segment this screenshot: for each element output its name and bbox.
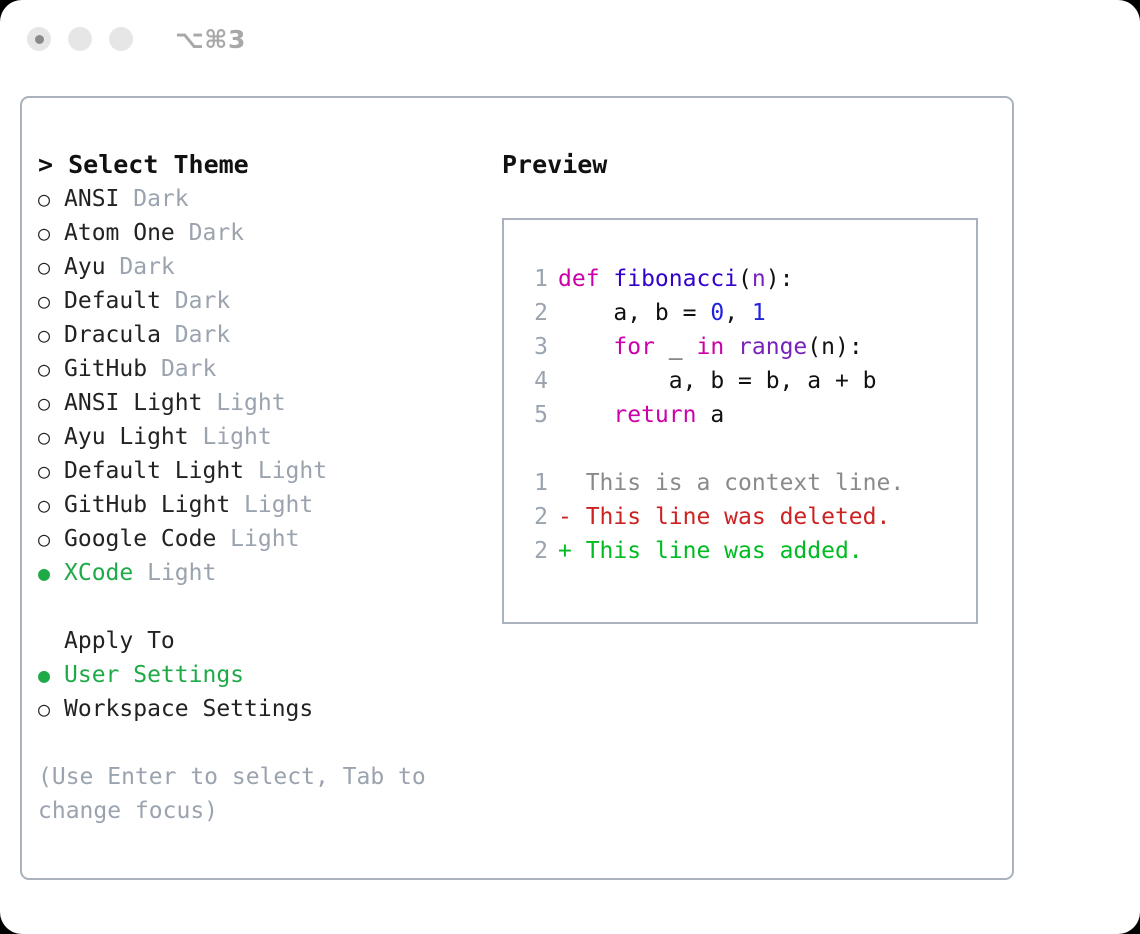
theme-option-kind: Light [230,488,313,522]
theme-option-github-light[interactable]: ○GitHub Light Light [38,488,478,522]
code-line-content: for _ in range(n): [558,330,863,364]
theme-option-kind: Light [189,420,272,454]
keyboard-shortcut-label: ⌥⌘3 [175,25,246,54]
apply-to-option-user-settings[interactable]: ●User Settings [38,658,478,692]
diff-line-text: This is a context line. [572,466,904,500]
diff-line-ctx: 1 This is a context line. [518,466,976,500]
code-line-number: 1 [518,262,548,296]
code-line: 2 a, b = 0, 1 [518,296,976,330]
select-theme-header: > Select Theme [38,148,478,182]
diff-line-add: 2+ This line was added. [518,534,976,568]
theme-option-kind: Light [202,386,285,420]
theme-option-kind: Dark [175,216,244,250]
theme-option-label: Default [64,284,161,318]
radio-unselected-icon: ○ [38,250,64,284]
main-card: > Select Theme ○ANSI Dark○Atom One Dark○… [20,96,1014,880]
code-token-plain: _ [655,334,697,360]
theme-option-kind: Dark [161,318,230,352]
list-spacer [38,590,478,624]
theme-option-label: Google Code [64,522,216,556]
theme-option-ayu[interactable]: ○Ayu Dark [38,250,478,284]
apply-to-option-label: Workspace Settings [64,692,313,726]
code-line-number: 2 [518,296,548,330]
theme-option-label: ANSI Light [64,386,202,420]
theme-option-label: Ayu Light [64,420,189,454]
theme-list: ○ANSI Dark○Atom One Dark○Ayu Dark○Defaul… [38,182,478,590]
code-line: 1def fibonacci(n): [518,262,976,296]
theme-option-label: GitHub [64,352,147,386]
theme-option-label: Dracula [64,318,161,352]
apply-to-option-workspace-settings[interactable]: ○Workspace Settings [38,692,478,726]
theme-option-label: Ayu [64,250,106,284]
theme-option-label: GitHub Light [64,488,230,522]
theme-option-kind: Light [133,556,216,590]
diff-line-number: 1 [518,466,548,500]
code-token-plain [558,402,613,428]
radio-unselected-icon: ○ [38,488,64,522]
radio-unselected-icon: ○ [38,182,64,216]
theme-option-atom-one[interactable]: ○Atom One Dark [38,216,478,250]
theme-option-github[interactable]: ○GitHub Dark [38,352,478,386]
code-token-call: range [738,334,807,360]
code-token-plain [724,334,738,360]
theme-option-kind: Dark [119,182,188,216]
code-line: 5 return a [518,398,976,432]
code-token-plain: a [696,402,724,428]
code-token-plain: a, b = [558,300,710,326]
radio-unselected-icon: ○ [38,420,64,454]
theme-selection-panel: > Select Theme ○ANSI Dark○Atom One Dark○… [38,148,478,828]
code-token-var: n [752,266,766,292]
theme-option-default-light[interactable]: ○Default Light Light [38,454,478,488]
code-token-plain [558,334,613,360]
diff-sign [558,466,572,500]
window-dot-third[interactable] [109,27,133,51]
code-token-fn: fibonacci [613,266,738,292]
theme-option-ansi-light[interactable]: ○ANSI Light Light [38,386,478,420]
theme-option-kind: Dark [106,250,175,284]
apply-to-label: Apply To [38,624,478,658]
code-token-num: 0 [710,300,724,326]
theme-option-default[interactable]: ○Default Dark [38,284,478,318]
diff-sign: - [558,500,572,534]
theme-option-label: Atom One [64,216,175,250]
code-token-plain: a, b = b, a + b [558,368,877,394]
theme-picker-window: ⌥⌘3 > Select Theme ○ANSI Dark○Atom One D… [0,0,1140,934]
theme-option-kind: Light [216,522,299,556]
code-token-kw: return [613,402,696,428]
diff-sign: + [558,534,572,568]
theme-option-dracula[interactable]: ○Dracula Dark [38,318,478,352]
code-line-content: a, b = b, a + b [558,364,877,398]
preview-box: 1def fibonacci(n):2 a, b = 0, 13 for _ i… [502,218,978,624]
code-token-plain: , [724,300,752,326]
preview-panel: Preview 1def fibonacci(n):2 a, b = 0, 13… [502,148,992,624]
help-text: (Use Enter to select, Tab to change focu… [38,760,438,828]
code-token-num: 1 [752,300,766,326]
code-line-content: a, b = 0, 1 [558,296,766,330]
radio-unselected-icon: ○ [38,284,64,318]
code-token-kw: for [613,334,655,360]
radio-unselected-icon: ○ [38,692,64,726]
theme-option-label: XCode [64,556,133,590]
code-line: 4 a, b = b, a + b [518,364,976,398]
diff-sample: 1 This is a context line.2- This line wa… [518,466,976,568]
code-sample: 1def fibonacci(n):2 a, b = 0, 13 for _ i… [518,262,976,432]
code-token-plain: ( [738,266,752,292]
radio-unselected-icon: ○ [38,318,64,352]
theme-option-label: ANSI [64,182,119,216]
window-dot-second[interactable] [68,27,92,51]
diff-line-del: 2- This line was deleted. [518,500,976,534]
window-titlebar: ⌥⌘3 [0,0,1140,78]
diff-line-text: This line was added. [572,534,863,568]
theme-option-kind: Light [244,454,327,488]
code-token-plain: ): [766,266,794,292]
theme-option-ayu-light[interactable]: ○Ayu Light Light [38,420,478,454]
radio-selected-icon: ● [38,556,64,590]
window-controls [27,27,133,51]
code-line-content: return a [558,398,724,432]
diff-line-text: This line was deleted. [572,500,891,534]
theme-option-label: Default Light [64,454,244,488]
radio-unselected-icon: ○ [38,454,64,488]
theme-option-kind: Dark [147,352,216,386]
radio-selected-icon: ● [38,658,64,692]
code-line: 3 for _ in range(n): [518,330,976,364]
code-diff-separator [518,432,976,466]
apply-to-option-label: User Settings [64,658,244,692]
window-dot-inner [35,35,44,44]
apply-to-list: ●User Settings○Workspace Settings [38,658,478,726]
theme-option-google-code[interactable]: ○Google Code Light [38,522,478,556]
code-token-kw: in [696,334,724,360]
card-columns: > Select Theme ○ANSI Dark○Atom One Dark○… [22,98,1012,878]
theme-option-xcode[interactable]: ●XCode Light [38,556,478,590]
window-dot-active[interactable] [27,27,51,51]
code-line-number: 5 [518,398,548,432]
radio-unselected-icon: ○ [38,522,64,556]
code-token-kw: def [558,266,613,292]
radio-unselected-icon: ○ [38,352,64,386]
diff-line-number: 2 [518,534,548,568]
code-line-content: def fibonacci(n): [558,262,793,296]
diff-line-number: 2 [518,500,548,534]
theme-option-ansi[interactable]: ○ANSI Dark [38,182,478,216]
radio-unselected-icon: ○ [38,216,64,250]
code-line-number: 3 [518,330,548,364]
radio-unselected-icon: ○ [38,386,64,420]
code-token-plain: (n): [807,334,862,360]
theme-option-kind: Dark [161,284,230,318]
code-line-number: 4 [518,364,548,398]
preview-header: Preview [502,148,992,182]
